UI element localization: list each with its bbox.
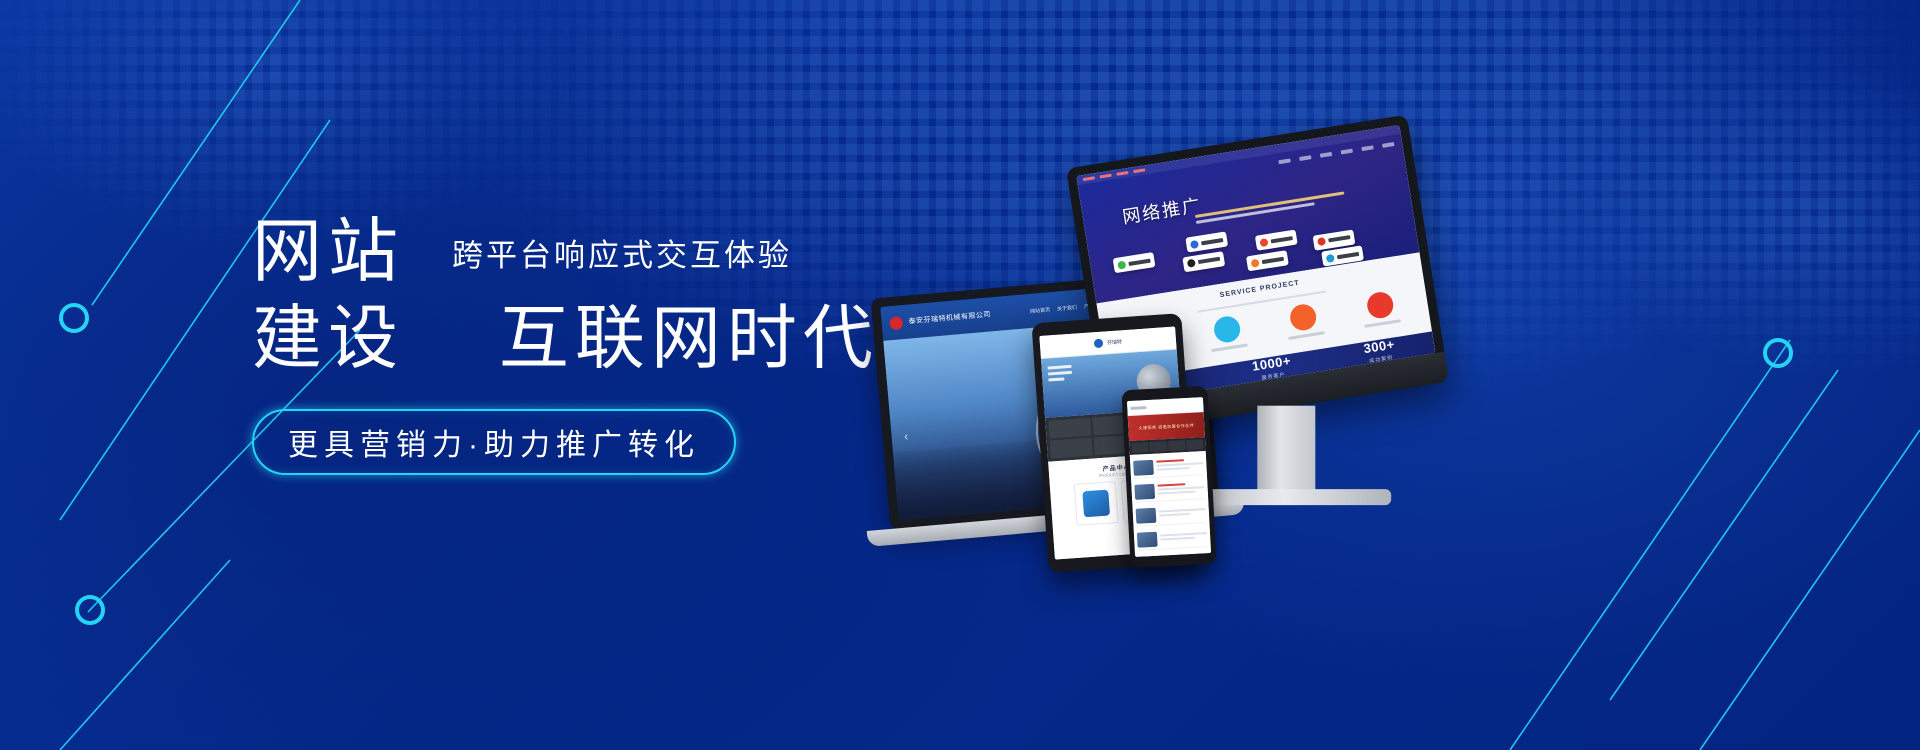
service-card [1194,312,1261,357]
headline-line-2-part-b: 互联网时代 [499,299,879,377]
headline-line-2-part-a: 建设 [252,299,404,377]
tablet-hero-caption [1048,365,1073,385]
phone-content-list [1130,451,1211,557]
phone-mockup: 火爆招商 诚邀加盟合作伙伴 [1121,386,1216,568]
tablet-product-item [1073,482,1118,527]
logo-chip [1182,251,1225,272]
phone-list-item [1134,478,1205,503]
pump-product-icon [1082,490,1110,518]
phone-thumbnail [1134,483,1155,499]
logo-chip [1246,250,1289,271]
device-mockup-cluster: 泰安芬瑞特机械有限公司 网站首页 关于我们 产品中心 新闻资讯 客户案例 联系我… [880,120,1890,640]
laptop-company-name: 泰安芬瑞特机械有限公司 [908,310,991,327]
monitor-stand-foot [1195,489,1391,505]
logo-chip [1185,232,1228,253]
phone-thumbnail [1136,507,1157,523]
phone-thumbnail [1133,459,1154,475]
slogan-pill: 更具营销力·助力推广转化 [252,409,736,475]
headline-line-2: 建设 互联网时代 [252,301,872,375]
logo-chip [1113,252,1156,273]
phone-list-item [1133,454,1204,479]
phone-thumbnail [1137,531,1158,547]
banner-copy: 网站 跨平台响应式交互体验 建设 互联网时代 更具营销力·助力推广转化 [252,215,872,475]
marketing-banner: 网站 跨平台响应式交互体验 建设 互联网时代 更具营销力·助力推广转化 泰安芬瑞… [0,0,1920,750]
monitor-hero-title: 网络推广 [1120,191,1203,229]
tablet-logo-icon [1094,338,1104,348]
phone-text-lines [1159,508,1206,518]
tablet-company-name: 芬瑞特 [1107,338,1122,346]
monitor-stand-neck [1257,406,1315,502]
phone-nav-item [1131,442,1149,453]
phone-screen: 火爆招商 诚邀加盟合作伙伴 [1127,397,1211,557]
service-card [1347,287,1414,332]
headline-line-1: 网站 [252,215,404,287]
phone-list-item [1137,526,1208,551]
banner-subtitle: 跨平台响应式交互体验 [452,230,792,287]
laptop-prev-arrow-icon: ‹ [904,429,909,443]
phone-text-lines [1157,482,1205,496]
tablet-nav-item [1050,438,1093,459]
phone-nav-item [1168,440,1186,451]
laptop-menu-item: 网站首页 [1030,306,1051,315]
logo-chip [1255,230,1298,251]
laptop-menu-item: 关于我们 [1057,303,1078,312]
phone-bezel: 火爆招商 诚邀加盟合作伙伴 [1121,386,1216,568]
phone-list-item [1135,502,1206,527]
phone-nav-item [1149,441,1167,452]
phone-text-lines [1160,532,1207,542]
phone-promo-text: 火爆招商 诚邀加盟合作伙伴 [1138,422,1194,431]
headline-row: 网站 跨平台响应式交互体验 [252,215,872,287]
tablet-nav-item [1048,417,1091,438]
service-card [1271,300,1338,345]
phone-nav-item [1186,439,1204,450]
phone-text-lines [1156,458,1204,472]
monitor-topbar [1076,125,1400,185]
laptop-logo-icon [889,316,903,330]
